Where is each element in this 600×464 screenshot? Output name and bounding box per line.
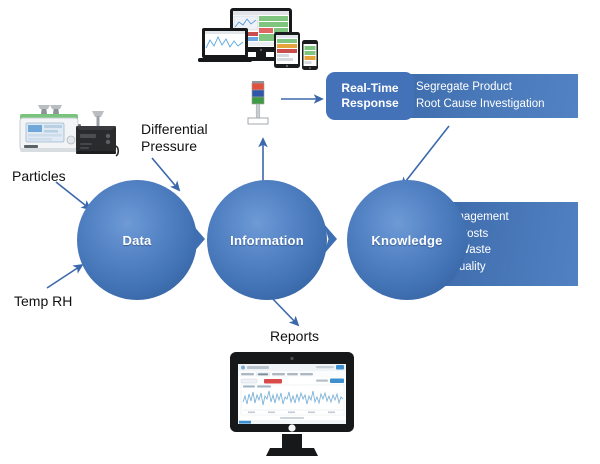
node-knowledge-label: Knowledge bbox=[371, 233, 442, 248]
arrow-temprh-to-data bbox=[47, 265, 82, 288]
particle-counter-icon bbox=[70, 110, 120, 158]
label-particles: Particles bbox=[12, 168, 66, 185]
chevron-right-icon bbox=[322, 222, 340, 256]
node-data[interactable]: Data bbox=[77, 180, 197, 300]
real-time-response-group: Segregate Product Root Cause Investigati… bbox=[326, 72, 578, 120]
real-time-response-list: Segregate Product Root Cause Investigati… bbox=[394, 74, 578, 112]
arrow-response-to-knowledge bbox=[402, 126, 449, 186]
node-data-label: Data bbox=[123, 233, 152, 248]
real-time-response-panel: Segregate Product Root Cause Investigati… bbox=[394, 74, 578, 118]
list-item: Root Cause Investigation bbox=[416, 96, 574, 113]
node-information[interactable]: Information bbox=[207, 180, 327, 300]
real-time-response-label: Real-Time Response bbox=[326, 81, 414, 111]
arrow-information-to-reports bbox=[270, 296, 298, 325]
multi-device-dashboard-icon bbox=[198, 6, 326, 78]
desktop-monitor-report-icon bbox=[224, 350, 360, 458]
list-item: Segregate Product bbox=[416, 79, 574, 96]
label-temp-rh: Temp RH bbox=[14, 293, 72, 310]
arrow-particles-to-data bbox=[56, 182, 90, 209]
node-knowledge[interactable]: Knowledge bbox=[347, 180, 467, 300]
chevron-right-icon bbox=[190, 222, 208, 256]
andon-stack-light-icon bbox=[243, 80, 273, 126]
label-differential-pressure: Differential Pressure bbox=[141, 121, 208, 155]
real-time-response-tab[interactable]: Real-Time Response bbox=[326, 72, 414, 120]
node-information-label: Information bbox=[230, 233, 304, 248]
diagram-canvas: Risk Management Reduce Costs Reduce Wast… bbox=[0, 0, 600, 464]
label-reports: Reports bbox=[270, 328, 319, 345]
